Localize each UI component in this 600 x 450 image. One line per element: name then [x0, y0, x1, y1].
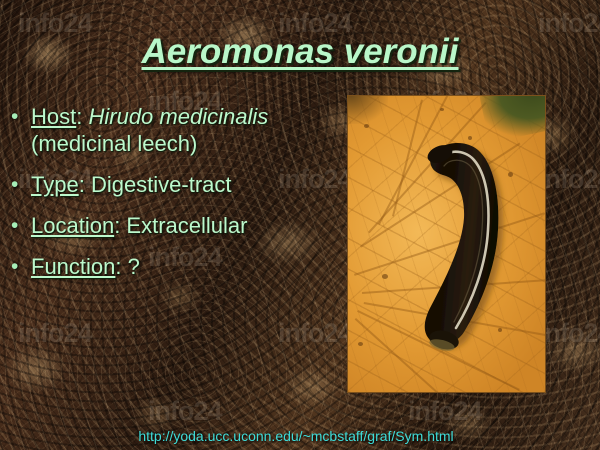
leech-body	[394, 126, 524, 356]
leaf-edge-shading	[347, 95, 388, 124]
list-item: • Type: Digestive-tract	[8, 171, 328, 198]
bullet-marker-icon: •	[8, 212, 31, 239]
list-item: • Location: Extracellular	[8, 212, 328, 239]
bullet-label: Host	[31, 104, 76, 129]
bullet-value: ?	[128, 254, 140, 279]
bullet-separator: :	[115, 254, 127, 279]
bullet-separator: :	[114, 213, 126, 238]
bullet-value: Extracellular	[126, 213, 247, 238]
bullet-separator: :	[76, 104, 88, 129]
bullet-marker-icon: •	[8, 171, 31, 198]
bullet-text: Type: Digestive-tract	[31, 171, 328, 198]
bullet-label: Location	[31, 213, 114, 238]
bullet-marker-icon: •	[8, 253, 31, 280]
bullet-label: Type	[31, 172, 79, 197]
bullet-value-italic: Hirudo medicinalis	[88, 104, 268, 129]
bullet-label: Function	[31, 254, 115, 279]
bullet-separator: :	[79, 172, 91, 197]
leech-photo	[347, 95, 546, 393]
bullet-list: • Host: Hirudo medicinalis (medicinal le…	[8, 103, 328, 294]
bullet-text: Location: Extracellular	[31, 212, 328, 239]
bullet-marker-icon: •	[8, 103, 31, 130]
source-url-text[interactable]: http://yoda.ucc.uconn.edu/~mcbstaff/graf…	[0, 428, 600, 444]
list-item: • Function: ?	[8, 253, 328, 280]
bullet-text: Function: ?	[31, 253, 328, 280]
leaf-spot	[382, 274, 388, 279]
leech-illustration	[394, 126, 524, 356]
leaf-spot	[440, 108, 444, 111]
bullet-text: Host: Hirudo medicinalis (medicinal leec…	[31, 103, 328, 157]
presentation-slide: info24info24info24info24info24info24info…	[0, 0, 600, 450]
page-title: Aeromonas veronii	[0, 32, 600, 72]
bullet-value: Digestive-tract	[91, 172, 232, 197]
leaf-spot	[358, 342, 363, 346]
list-item: • Host: Hirudo medicinalis (medicinal le…	[8, 103, 328, 157]
bullet-value: (medicinal leech)	[31, 131, 197, 156]
leaf-spot	[364, 124, 369, 128]
